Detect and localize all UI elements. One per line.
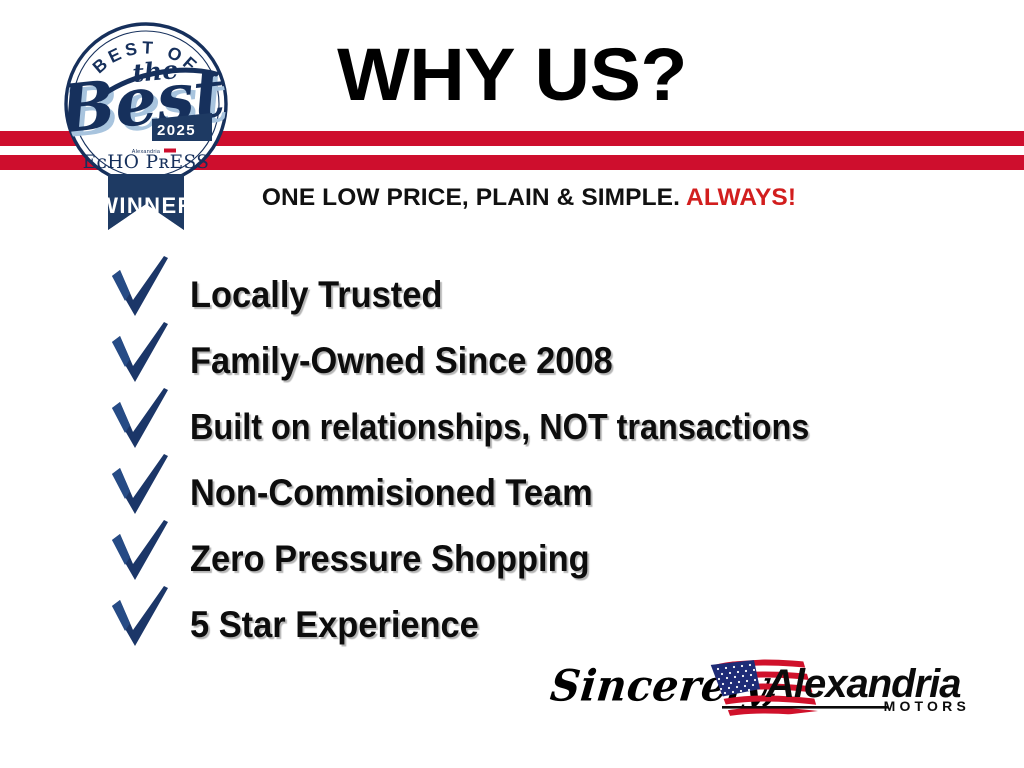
list-item: 5 Star Experience [108, 592, 1008, 658]
svg-text:EᴄHO PʀESS: EᴄHO PʀESS [83, 152, 210, 173]
best-of-the-best-badge: BEST OF the Best Best 2025 Alexandria Eᴄ… [60, 8, 232, 236]
subtitle-highlight-text: ALWAYS! [686, 184, 796, 211]
subtitle-main-text: ONE LOW PRICE, PLAIN & SIMPLE. [262, 184, 680, 211]
checkmark-icon [108, 454, 172, 520]
list-item: Family-Owned Since 2008 [108, 328, 1008, 394]
checkmark-icon [108, 322, 172, 388]
list-item-label: Built on relationships, NOT transactions [190, 394, 809, 460]
benefits-checklist: Locally Trusted Family-Owned Since 2008 … [108, 262, 1008, 658]
checkmark-icon [108, 388, 172, 454]
list-item-label: 5 Star Experience [190, 592, 479, 658]
list-item: Non-Commisioned Team [108, 460, 1008, 526]
checkmark-icon [108, 586, 172, 652]
svg-text:WINNER: WINNER [97, 193, 195, 218]
list-item-label: Zero Pressure Shopping [190, 526, 590, 592]
list-item-label: Locally Trusted [190, 262, 442, 328]
brand-subtitle: MOTORS [884, 698, 970, 714]
list-item: Zero Pressure Shopping [108, 526, 1008, 592]
list-item-label: Family-Owned Since 2008 [190, 328, 613, 394]
logo-rule [722, 706, 888, 709]
list-item: Locally Trusted [108, 262, 1008, 328]
svg-text:2025: 2025 [157, 122, 196, 139]
checkmark-icon [108, 256, 172, 322]
list-item: Built on relationships, NOT transactions [108, 394, 1008, 460]
checkmark-icon [108, 520, 172, 586]
alexandria-motors-logo: Alexandria MOTORS [706, 655, 974, 727]
list-item-label: Non-Commisioned Team [190, 460, 593, 526]
